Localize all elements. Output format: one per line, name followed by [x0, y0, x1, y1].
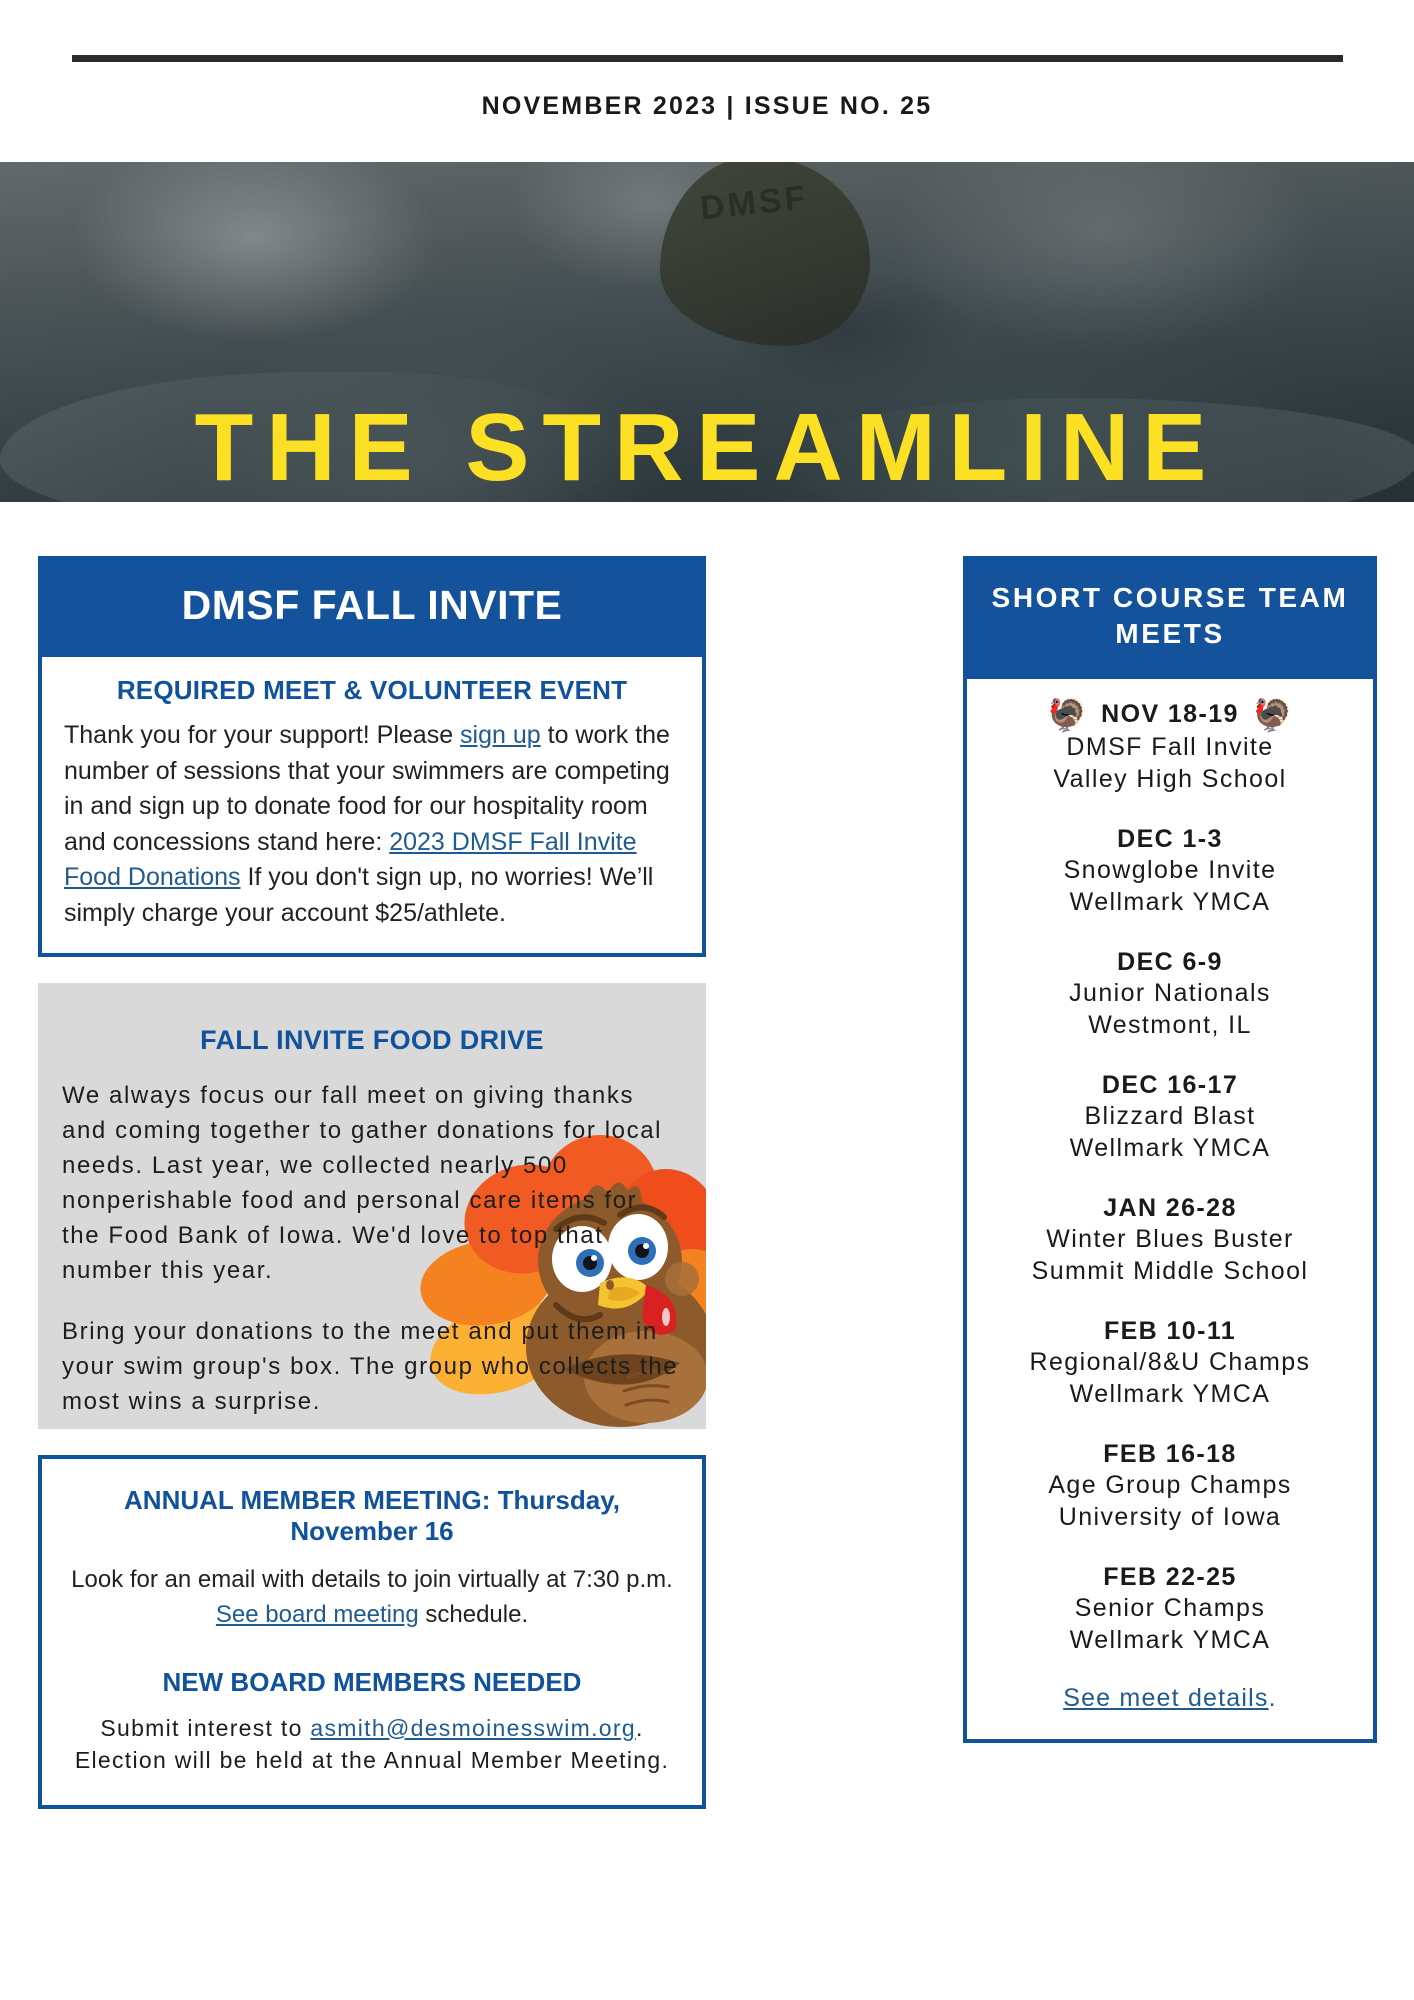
newsletter-page: NOVEMBER 2023 | ISSUE NO. 25 DMSF THE ST… [0, 0, 1414, 2000]
meet-location: Wellmark YMCA [973, 1624, 1367, 1656]
team-meets-banner: SHORT COURSE TEAM MEETS [967, 560, 1373, 675]
meet-name: Blizzard Blast [973, 1100, 1367, 1132]
meet-item: FEB 10-11Regional/8&U ChampsWellmark YMC… [973, 1317, 1367, 1410]
meet-location: Wellmark YMCA [973, 886, 1367, 918]
meet-details-line: See meet details. [1063, 1684, 1277, 1712]
meet-details-wrap: See meet details. [973, 1678, 1367, 1713]
turkey-icon: 🦃 [1047, 699, 1087, 731]
hero-banner: DMSF THE STREAMLINE Des Moines Swimming … [0, 162, 1414, 502]
sidebar-column: SHORT COURSE TEAM MEETS 🦃NOV 18-19🦃DMSF … [963, 556, 1377, 1743]
sign-up-link[interactable]: sign up [460, 721, 541, 749]
meet-item: 🦃NOV 18-19🦃DMSF Fall InviteValley High S… [973, 699, 1367, 795]
meet-date: FEB 16-18 [973, 1440, 1367, 1469]
meet-location: Valley High School [973, 763, 1367, 795]
board-meeting-link[interactable]: See board meeting [216, 1601, 419, 1628]
fall-invite-paragraph: Thank you for your support! Please sign … [64, 718, 680, 931]
meet-name: Age Group Champs [973, 1469, 1367, 1501]
fall-invite-content: REQUIRED MEET & VOLUNTEER EVENT Thank yo… [42, 653, 702, 953]
meet-item: FEB 22-25Senior ChampsWellmark YMCA [973, 1563, 1367, 1656]
board-members-line-2: Election will be held at the Annual Memb… [62, 1744, 682, 1777]
submit-interest-text: Submit interest to [100, 1715, 310, 1741]
meet-location: University of Iowa [973, 1501, 1367, 1533]
annual-meeting-title: ANNUAL MEMBER MEETING: Thursday, Novembe… [62, 1485, 682, 1547]
meet-location: Westmont, IL [973, 1009, 1367, 1041]
meet-item: DEC 6-9Junior NationalsWestmont, IL [973, 948, 1367, 1041]
meet-location: Wellmark YMCA [973, 1132, 1367, 1164]
turkey-icon: 🦃 [1253, 699, 1293, 731]
meet-name: Regional/8&U Champs [973, 1346, 1367, 1378]
board-members-title: NEW BOARD MEMBERS NEEDED [62, 1667, 682, 1698]
meet-date: NOV 18-19 [1101, 700, 1239, 729]
annual-meeting-card: ANNUAL MEMBER MEETING: Thursday, Novembe… [38, 1455, 706, 1809]
meet-date: FEB 22-25 [973, 1563, 1367, 1592]
meet-name: DMSF Fall Invite [973, 731, 1367, 763]
fall-invite-card: DMSF FALL INVITE REQUIRED MEET & VOLUNTE… [38, 556, 706, 957]
body-area: DMSF FALL INVITE REQUIRED MEET & VOLUNTE… [0, 502, 1414, 2000]
meet-date: FEB 10-11 [973, 1317, 1367, 1346]
meet-name: Snowglobe Invite [973, 854, 1367, 886]
meet-location: Wellmark YMCA [973, 1378, 1367, 1410]
fall-invite-text-1: Thank you for your support! Please [64, 721, 460, 749]
meet-details-period: . [1269, 1684, 1277, 1712]
meet-name: Senior Champs [973, 1592, 1367, 1624]
issue-line: NOVEMBER 2023 | ISSUE NO. 25 [0, 92, 1414, 121]
team-meets-card: SHORT COURSE TEAM MEETS 🦃NOV 18-19🦃DMSF … [963, 556, 1377, 1743]
annual-meeting-line-2: See board meeting schedule. [62, 1598, 682, 1633]
newsletter-title: THE STREAMLINE [0, 400, 1414, 496]
meet-date: DEC 1-3 [973, 825, 1367, 854]
board-members-line-1: Submit interest to asmith@desmoinesswim.… [62, 1712, 682, 1745]
food-drive-paragraph-2: Bring your donations to the meet and put… [62, 1314, 682, 1419]
masthead-rule [72, 55, 1343, 62]
board-email-link[interactable]: asmith@desmoinesswim.org [310, 1715, 636, 1741]
meet-item: DEC 1-3Snowglobe InviteWellmark YMCA [973, 825, 1367, 918]
meet-location: Summit Middle School [973, 1255, 1367, 1287]
food-drive-panel: FALL INVITE FOOD DRIVE [38, 983, 706, 1429]
masthead: NOVEMBER 2023 | ISSUE NO. 25 [0, 0, 1414, 162]
meet-item: JAN 26-28Winter Blues BusterSummit Middl… [973, 1194, 1367, 1287]
meet-date: DEC 16-17 [973, 1071, 1367, 1100]
team-meets-list: 🦃NOV 18-19🦃DMSF Fall InviteValley High S… [967, 675, 1373, 1739]
meet-name: Junior Nationals [973, 977, 1367, 1009]
fall-invite-banner: DMSF FALL INVITE [42, 560, 702, 653]
meet-date: JAN 26-28 [973, 1194, 1367, 1223]
food-drive-body: We always focus our fall meet on giving … [38, 1056, 706, 1419]
meet-name: Winter Blues Buster [973, 1223, 1367, 1255]
food-drive-paragraph-1: We always focus our fall meet on giving … [62, 1078, 682, 1288]
meet-item: DEC 16-17Blizzard BlastWellmark YMCA [973, 1071, 1367, 1164]
schedule-text: schedule. [419, 1601, 528, 1628]
see-meet-details-link[interactable]: See meet details [1063, 1684, 1268, 1712]
meet-item: FEB 16-18Age Group ChampsUniversity of I… [973, 1440, 1367, 1533]
food-drive-heading: FALL INVITE FOOD DRIVE [38, 983, 706, 1056]
annual-meeting-line-1: Look for an email with details to join v… [62, 1563, 682, 1598]
main-column: DMSF FALL INVITE REQUIRED MEET & VOLUNTE… [38, 556, 706, 1809]
board-period: . [636, 1715, 644, 1741]
meet-date: DEC 6-9 [973, 948, 1367, 977]
fall-invite-subheading: REQUIRED MEET & VOLUNTEER EVENT [64, 675, 680, 706]
